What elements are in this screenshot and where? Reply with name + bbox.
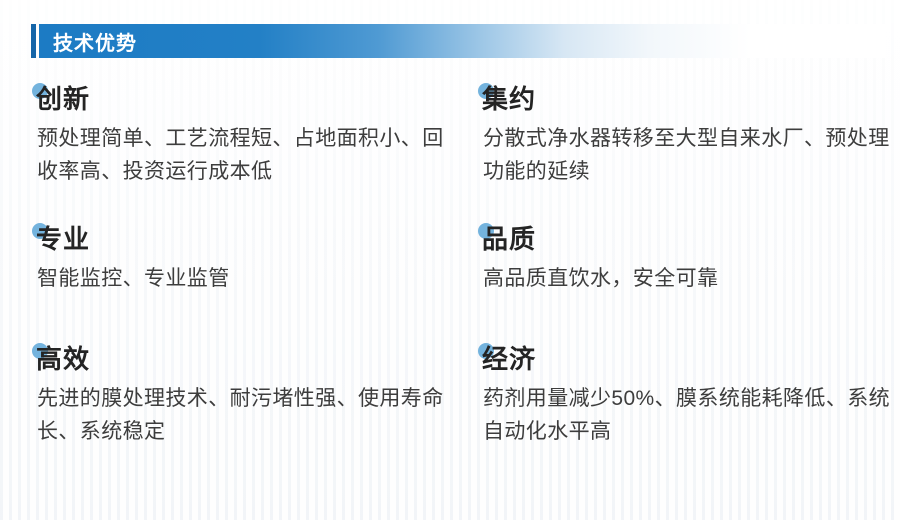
header-gradient-bar: 技术优势: [39, 24, 886, 58]
feature-description: 预处理简单、工艺流程短、占地面积小、回收率高、投资运行成本低: [31, 122, 449, 188]
feature-title: 创新: [36, 84, 90, 114]
feature-block-quality: 品质 高品质直饮水，安全可靠: [477, 222, 897, 295]
feature-heading-row: 专业: [31, 222, 451, 262]
feature-heading-row: 品质: [477, 222, 897, 262]
slide-root: 技术优势 创新 预处理简单、工艺流程短、占地面积小、回收率高、投资运行成本低 专…: [0, 0, 900, 520]
feature-description: 先进的膜处理技术、耐污堵性强、使用寿命长、系统稳定: [31, 382, 449, 448]
section-header: 技术优势: [31, 24, 886, 58]
feature-block-economical: 经济 药剂用量减少50%、膜系统能耗降低、系统自动化水平高: [477, 342, 897, 448]
feature-title: 高效: [36, 344, 90, 374]
feature-block-innovation: 创新 预处理简单、工艺流程短、占地面积小、回收率高、投资运行成本低: [31, 82, 451, 188]
feature-heading-row: 高效: [31, 342, 451, 382]
feature-title: 专业: [36, 224, 90, 254]
feature-description: 高品质直饮水，安全可靠: [477, 262, 895, 295]
page-title: 技术优势: [39, 27, 137, 56]
feature-title: 品质: [482, 224, 536, 254]
feature-block-intensive: 集约 分散式净水器转移至大型自来水厂、预处理功能的延续: [477, 82, 897, 188]
feature-block-efficient: 高效 先进的膜处理技术、耐污堵性强、使用寿命长、系统稳定: [31, 342, 451, 448]
feature-block-professional: 专业 智能监控、专业监管: [31, 222, 451, 295]
feature-title: 经济: [482, 344, 536, 374]
feature-description: 药剂用量减少50%、膜系统能耗降低、系统自动化水平高: [477, 382, 895, 448]
feature-heading-row: 经济: [477, 342, 897, 382]
content-area: 创新 预处理简单、工艺流程短、占地面积小、回收率高、投资运行成本低 专业 智能监…: [0, 82, 900, 512]
feature-description: 分散式净水器转移至大型自来水厂、预处理功能的延续: [477, 122, 895, 188]
feature-heading-row: 集约: [477, 82, 897, 122]
feature-title: 集约: [482, 84, 536, 114]
feature-description: 智能监控、专业监管: [31, 262, 449, 295]
feature-heading-row: 创新: [31, 82, 451, 122]
